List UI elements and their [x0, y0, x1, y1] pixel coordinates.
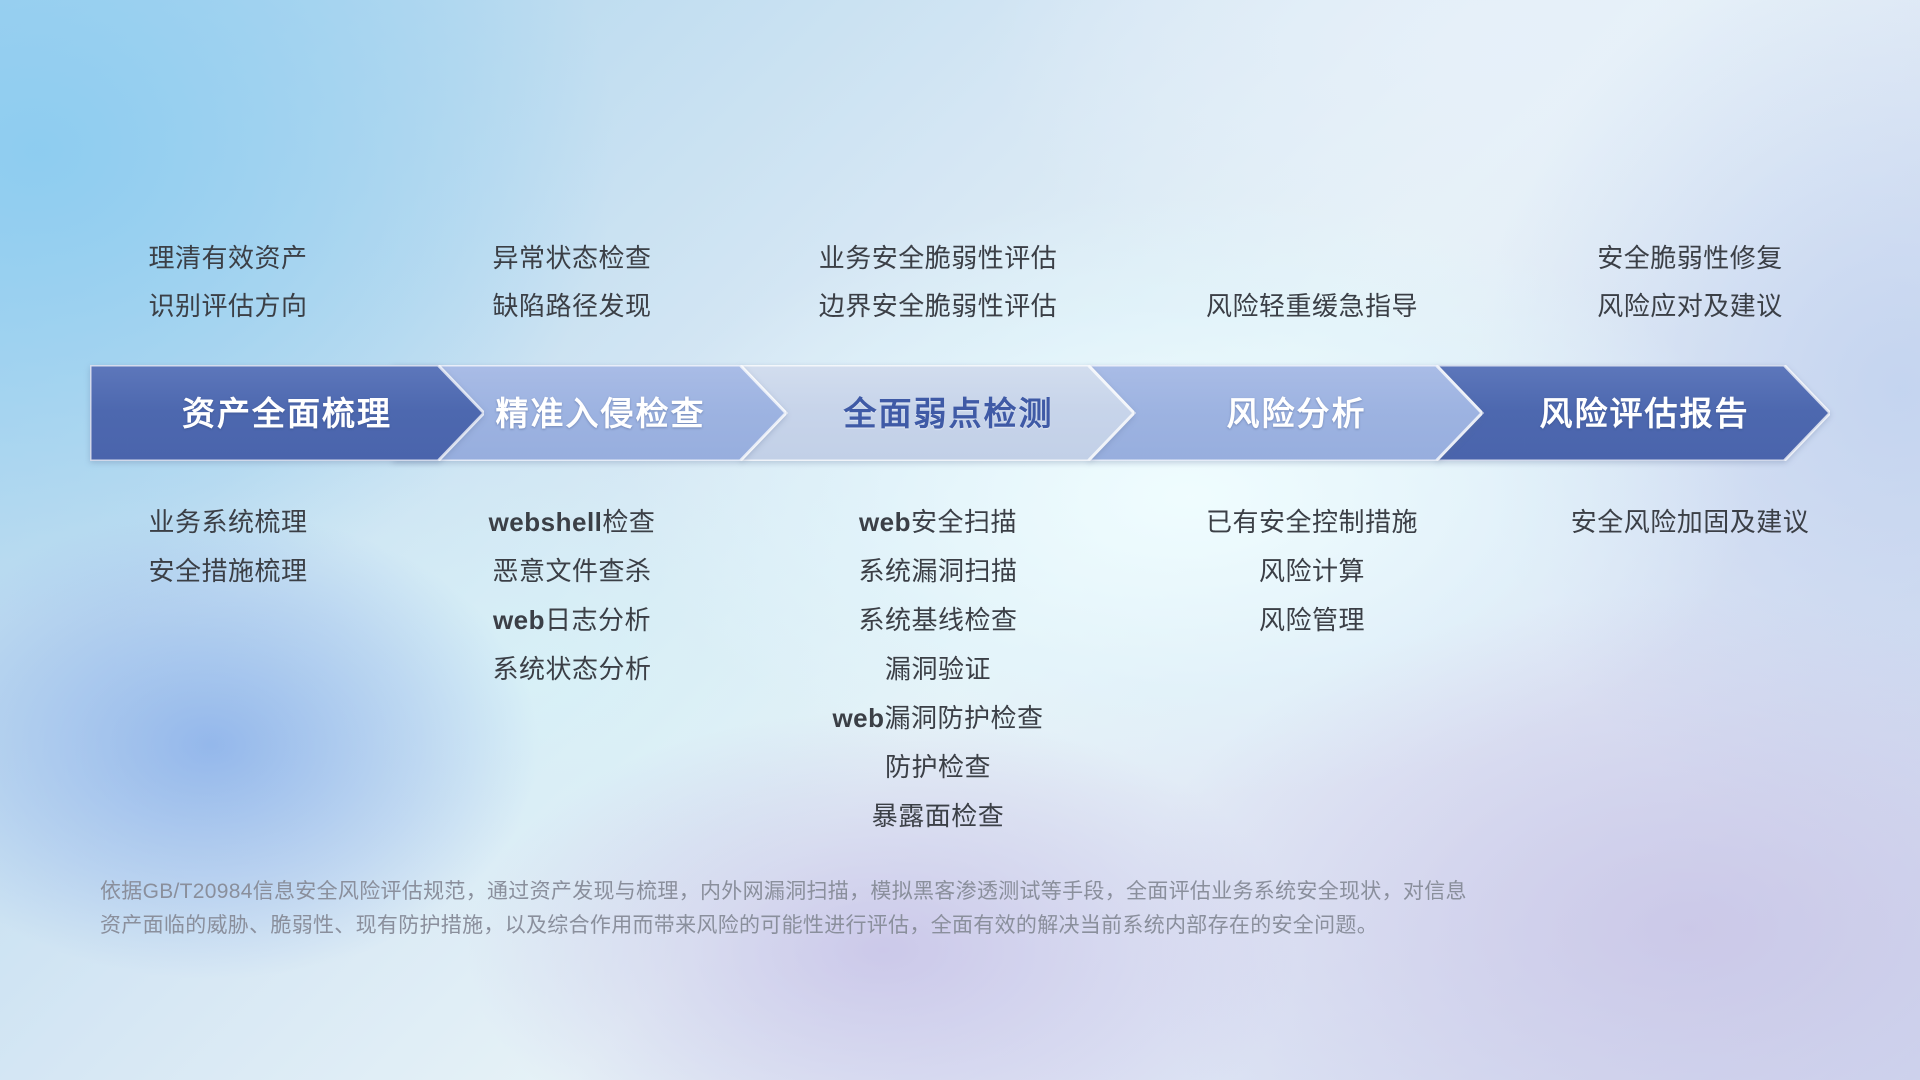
process-stage-label: 风险分析	[1227, 397, 1367, 430]
stage-intrusion-check-bot-line: 恶意文件查杀	[492, 547, 651, 596]
process-stage-risk-analysis[interactable]: 风险分析	[1088, 365, 1482, 461]
descriptor-text: 系统状态分析	[492, 654, 651, 684]
descriptor-text: 日志分析	[545, 605, 651, 635]
descriptor-text: 防护检查	[885, 752, 991, 782]
stage-asset-inventory-bot-line: 业务系统梳理	[148, 498, 307, 547]
stage-asset-inventory-top-line: 识别评估方向	[148, 282, 307, 330]
process-stage-risk-report[interactable]: 风险评估报告	[1436, 365, 1830, 461]
descriptor-text: 系统漏洞扫描	[858, 556, 1017, 586]
footer-description: 依据GB/T20984信息安全风险评估规范，通过资产发现与梳理，内外网漏洞扫描，…	[100, 875, 1840, 943]
process-stage-label: 精准入侵检查	[496, 397, 706, 430]
descriptor-text: 检查	[602, 507, 655, 537]
process-diagram: 理清有效资产识别评估方向异常状态检查缺陷路径发现业务安全脆弱性评估边界安全脆弱性…	[0, 0, 1920, 1080]
descriptor-text: 安全扫描	[911, 507, 1017, 537]
descriptor-text: 恶意文件查杀	[492, 556, 651, 586]
descriptor-text: 漏洞验证	[885, 654, 991, 684]
footer-line-2: 资产面临的威胁、脆弱性、现有防护措施，以及综合作用而带来风险的可能性进行评估，全…	[100, 909, 1840, 943]
descriptor-text: 暴露面检查	[872, 801, 1005, 831]
stage-weakness-detection-bot-line: 系统基线检查	[858, 596, 1017, 645]
process-stage-weakness-detection[interactable]: 全面弱点检测	[740, 365, 1134, 461]
process-chevron-band: 资产全面梳理精准入侵检查全面弱点检测风险分析风险评估报告	[90, 365, 1830, 461]
stage-asset-inventory-bot-line: 安全措施梳理	[148, 547, 307, 596]
stage-weakness-detection-bot-line: 系统漏洞扫描	[858, 547, 1017, 596]
descriptor-text: 风险计算	[1259, 556, 1365, 586]
descriptor-text: 已有安全控制措施	[1206, 507, 1418, 537]
process-stage-label: 资产全面梳理	[182, 397, 392, 430]
stage-weakness-detection-bot-line: 漏洞验证	[885, 645, 991, 694]
descriptor-text: 系统基线检查	[858, 605, 1017, 635]
stage-risk-report-bot-line: 安全风险加固及建议	[1571, 498, 1810, 547]
descriptor-text: 安全措施梳理	[148, 556, 307, 586]
stage-risk-analysis-top-line: 风险轻重缓急指导	[1206, 282, 1418, 330]
footer-line-1: 依据GB/T20984信息安全风险评估规范，通过资产发现与梳理，内外网漏洞扫描，…	[100, 875, 1840, 909]
stage-weakness-detection-bot-line: web漏洞防护检查	[832, 694, 1043, 743]
emphasis-token: web	[493, 605, 545, 635]
emphasis-token: webshell	[489, 507, 603, 537]
stage-intrusion-check-bot-line: webshell检查	[489, 498, 656, 547]
descriptor-text: 风险管理	[1259, 605, 1365, 635]
stage-weakness-detection-bot-line: web安全扫描	[859, 498, 1017, 547]
stage-intrusion-check-top-line: 异常状态检查	[492, 234, 651, 282]
emphasis-token: web	[832, 703, 884, 733]
process-stage-asset-inventory[interactable]: 资产全面梳理	[90, 365, 484, 461]
descriptor-text: 安全风险加固及建议	[1571, 507, 1810, 537]
stage-risk-analysis-bot-line: 风险管理	[1259, 596, 1365, 645]
stage-risk-report-top-group: 安全脆弱性修复风险应对及建议	[1430, 234, 1920, 330]
descriptor-text: 业务系统梳理	[148, 507, 307, 537]
descriptor-text: 漏洞防护检查	[885, 703, 1044, 733]
stage-intrusion-check-top-line: 缺陷路径发现	[492, 282, 651, 330]
stage-risk-analysis-bot-line: 已有安全控制措施	[1206, 498, 1418, 547]
stage-intrusion-check-bot-line: 系统状态分析	[492, 645, 651, 694]
stage-risk-report-top-line: 安全脆弱性修复	[1597, 234, 1783, 282]
process-stage-label: 风险评估报告	[1540, 397, 1750, 430]
stage-asset-inventory-top-line: 理清有效资产	[148, 234, 307, 282]
stage-intrusion-check-bot-line: web日志分析	[493, 596, 651, 645]
stage-risk-report-bot-group: 安全风险加固及建议	[1430, 498, 1920, 547]
stage-weakness-detection-top-line: 业务安全脆弱性评估	[819, 234, 1058, 282]
stage-weakness-detection-bot-line: 防护检查	[885, 743, 991, 792]
stage-weakness-detection-top-line: 边界安全脆弱性评估	[819, 282, 1058, 330]
stage-weakness-detection-bot-line: 暴露面检查	[872, 792, 1005, 841]
stage-risk-analysis-bot-line: 风险计算	[1259, 547, 1365, 596]
process-stage-label: 全面弱点检测	[844, 397, 1054, 430]
stage-risk-report-top-line: 风险应对及建议	[1597, 282, 1783, 330]
emphasis-token: web	[859, 507, 911, 537]
